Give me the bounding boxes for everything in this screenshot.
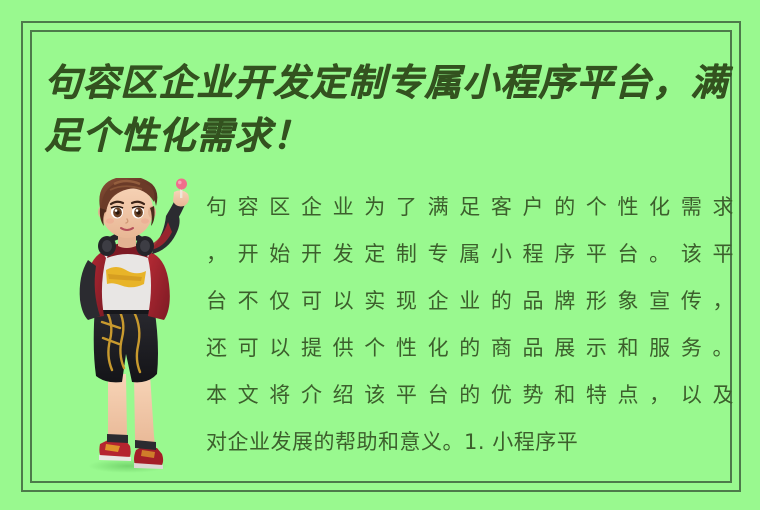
character-shoe-right [134,447,163,469]
body-line: 台不仅可以实现企业的品牌形象宣传， [206,278,734,325]
poster-canvas: 句容区企业开发定制专属小程序平台，满足个性化需求！ [0,0,760,510]
character-shorts [94,306,158,382]
body-line: ，开始开发定制专属小程序平台。该平 [206,231,734,278]
character-illustration [62,178,202,474]
character-shoe-left [99,440,131,461]
body-line: 本文将介绍该平台的优势和特点，以及 [206,372,734,419]
body-line: 还可以提供个性化的商品展示和服务。 [206,325,734,372]
body-line: 对企业发展的帮助和意义。1. 小程序平 [206,419,734,466]
poster-body-text: 句容区企业为了满足客户的个性化需求 ，开始开发定制专属小程序平台。该平 台不仅可… [206,184,734,466]
poster-headline: 句容区企业开发定制专属小程序平台，满足个性化需求！ [44,56,734,162]
character-sock-left [107,434,128,443]
character-leg-right [134,374,155,450]
character-head [98,178,157,238]
character-hand-lollipop [173,179,189,207]
body-line: 句容区企业为了满足客户的个性化需求 [206,184,734,231]
character-jacket-right [148,252,170,320]
